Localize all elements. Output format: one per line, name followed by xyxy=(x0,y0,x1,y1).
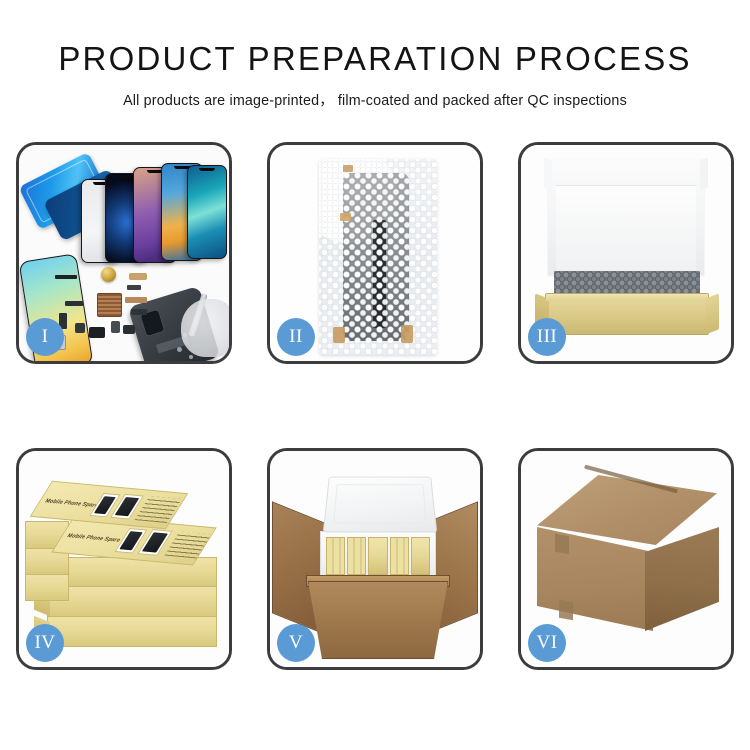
page-subtitle: All products are image-printed， film-coa… xyxy=(0,89,750,110)
gold-flex-icon xyxy=(125,297,147,303)
carton-body-icon xyxy=(308,581,448,659)
tape-strip-icon xyxy=(333,327,345,343)
step-badge-1: I xyxy=(26,318,64,356)
small-flex-icon xyxy=(127,285,141,290)
ic-chip-icon xyxy=(111,321,120,333)
phone-teal-icon xyxy=(187,165,227,259)
phone-fan-group xyxy=(81,163,229,263)
box-spec-lines xyxy=(135,496,182,523)
screw-icon xyxy=(177,347,182,352)
page-title: PRODUCT PREPARATION PROCESS xyxy=(0,42,750,77)
step-panel-4[interactable]: Mobile Phone Spare Parts Mobile Phone Sp… xyxy=(16,448,232,670)
step-panel-1[interactable]: I xyxy=(16,142,232,364)
yellow-tray-box-icon xyxy=(545,293,709,335)
yellow-boxes-group xyxy=(326,537,430,575)
bubble-texture xyxy=(319,159,437,355)
yellow-box-item xyxy=(326,537,345,575)
sensor-icon xyxy=(75,323,85,333)
ribbon-cable-icon xyxy=(65,301,83,306)
process-step-grid: I II xyxy=(16,142,734,670)
yellow-box-item xyxy=(368,537,387,575)
box-spec-lines xyxy=(164,531,211,558)
step-badge-5: V xyxy=(277,624,315,662)
styrofoam-lid-icon xyxy=(323,477,437,533)
step-badge-6: VI xyxy=(528,624,566,662)
product-preparation-infographic: PRODUCT PREPARATION PROCESS All products… xyxy=(0,0,750,750)
retail-box-layer xyxy=(25,573,69,601)
step-panel-2[interactable]: II xyxy=(267,142,483,364)
step-panel-5[interactable]: V xyxy=(267,448,483,670)
step-badge-2: II xyxy=(277,318,315,356)
screw-icon xyxy=(189,355,193,359)
flex-cable-icon xyxy=(55,275,77,279)
vibrator-motor-icon xyxy=(123,325,135,334)
carton-tape-icon xyxy=(555,534,569,554)
step-badge-3: III xyxy=(528,318,566,356)
bubble-wrap-bag-icon xyxy=(319,159,437,355)
step-panel-6[interactable]: VI xyxy=(518,448,734,670)
tape-strip-icon xyxy=(401,325,413,343)
carton-tape-icon xyxy=(559,600,573,620)
camera-module-icon xyxy=(101,267,116,282)
header: PRODUCT PREPARATION PROCESS All products… xyxy=(0,0,750,110)
hand-icon xyxy=(181,299,229,357)
chip-array-icon xyxy=(97,293,122,317)
step-badge-4: IV xyxy=(26,624,64,662)
yellow-box-item xyxy=(347,537,366,575)
yellow-box-item xyxy=(390,537,409,575)
retail-box-layer xyxy=(47,615,217,647)
tape-strip-icon xyxy=(343,165,353,172)
step-panel-3[interactable]: III xyxy=(518,142,734,364)
yellow-box-item xyxy=(411,537,430,575)
white-foam-lid-icon xyxy=(548,159,704,275)
tape-strip-icon xyxy=(340,213,351,221)
retail-box-layer xyxy=(47,585,217,617)
speaker-module-icon xyxy=(89,327,105,338)
gold-connector-icon xyxy=(129,273,147,280)
connector-icon xyxy=(131,309,147,315)
